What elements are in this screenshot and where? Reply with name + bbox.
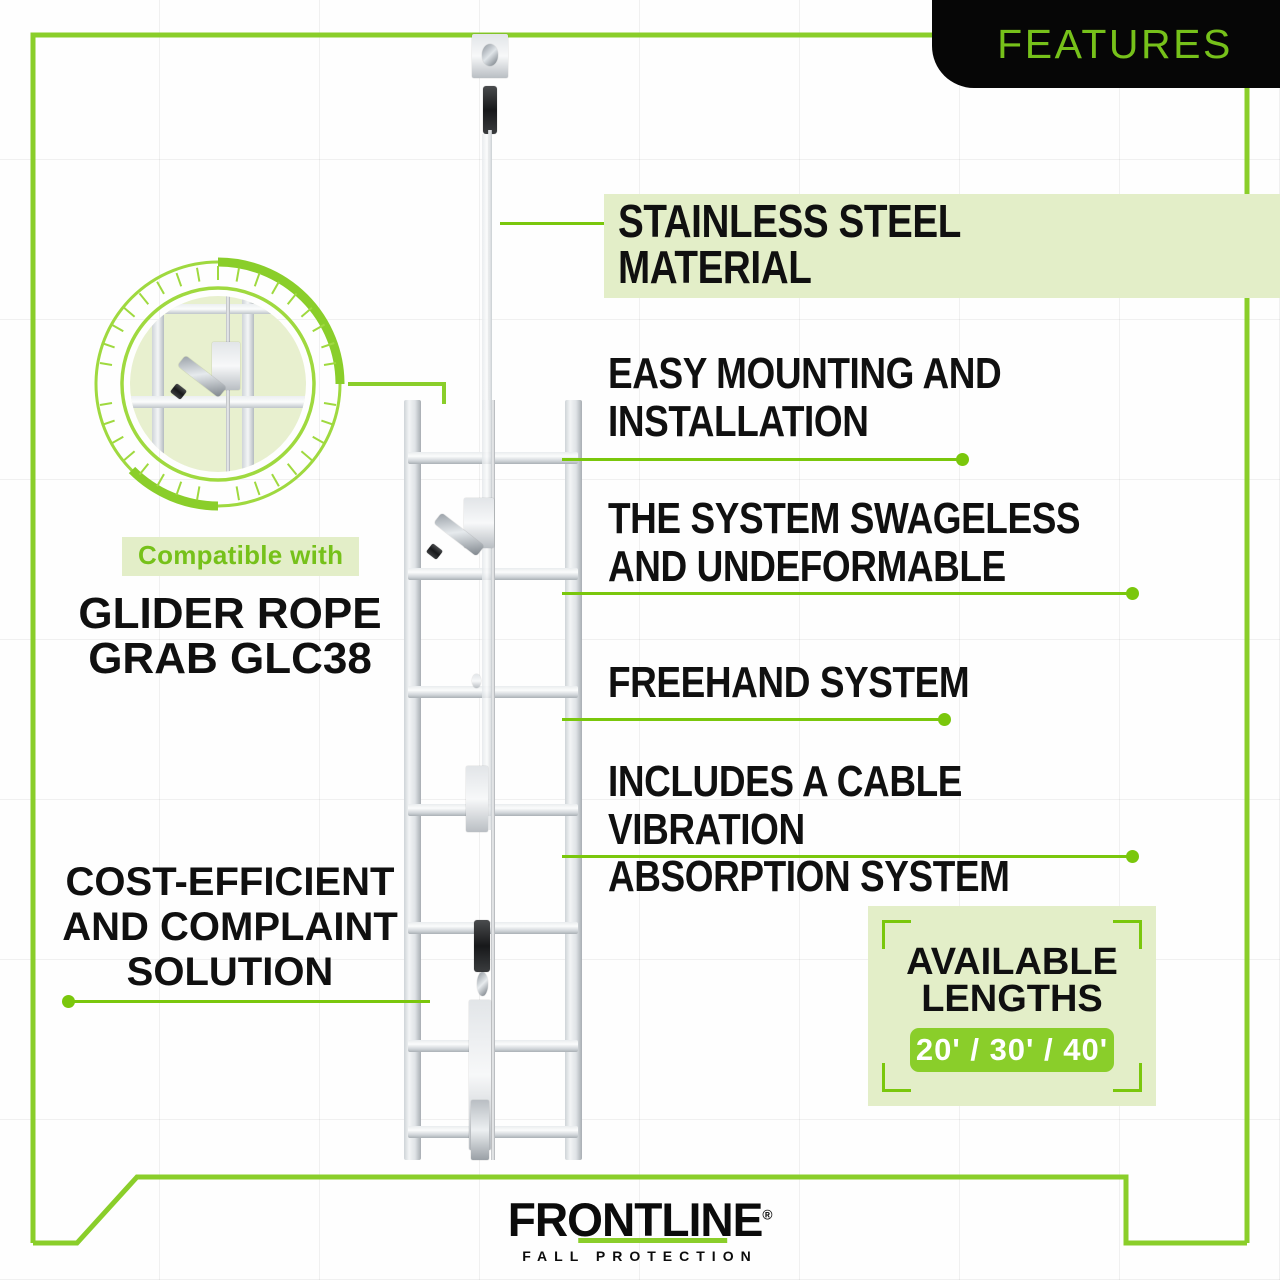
frontline-logo: FRONTLINE® FALL PROTECTION [480, 1196, 800, 1264]
feature-vibration-label: INCLUDES A CABLE VIBRATION ABSORPTION SY… [608, 758, 1146, 901]
feature-dot-vibration [1126, 850, 1139, 863]
feature-line-stainless [500, 222, 610, 225]
logo-wordmark: FRONTLINE® [508, 1196, 772, 1243]
features-header-tab: FEATURES [932, 0, 1280, 88]
corner-bracket-bottom-left [882, 1063, 911, 1092]
feature-line-easy-mounting [562, 458, 962, 461]
feature-line-swageless [562, 592, 1132, 595]
corner-bracket-bottom-right [1113, 1063, 1142, 1092]
feature-line-cost-efficient [70, 1000, 430, 1003]
cost-efficient-label: COST-EFFICIENT AND COMPLAINT SOLUTION [60, 860, 400, 994]
feature-freehand-label: FREEHAND SYSTEM [608, 660, 969, 706]
available-lengths-value: 20' / 30' / 40' [916, 1032, 1108, 1068]
compatible-with-label: Compatible with [122, 537, 359, 576]
feature-swageless-label: THE SYSTEM SWAGELESS AND UNDEFORMABLE [608, 495, 1080, 590]
features-header-label: FEATURES [979, 21, 1233, 68]
feature-swageless: THE SYSTEM SWAGELESS AND UNDEFORMABLE [608, 495, 1208, 590]
product-photo-top-anchor [470, 34, 510, 404]
available-lengths-box: AVAILABLE LENGTHS 20' / 30' / 40' [868, 906, 1156, 1106]
feature-line-vibration [562, 855, 1132, 858]
magnifier-detail-photo [130, 296, 306, 472]
infographic-canvas: FEATURES [0, 0, 1280, 1280]
feature-dot-freehand [938, 713, 951, 726]
feature-easy-mounting: EASY MOUNTING AND INSTALLATION [608, 350, 1168, 445]
available-lengths-pill: 20' / 30' / 40' [910, 1028, 1114, 1072]
ladder-photo [398, 400, 588, 1160]
feature-stainless-steel: STAINLESS STEEL MATERIAL [604, 194, 1280, 298]
feature-stainless-label: STAINLESS STEEL MATERIAL [618, 198, 1162, 290]
magnifier-callout [84, 250, 352, 518]
feature-dot-swageless [1126, 587, 1139, 600]
compatible-product-label: GLIDER ROPE GRAB GLC38 [60, 592, 400, 682]
feature-freehand: FREEHAND SYSTEM [608, 660, 1108, 706]
available-lengths-title: AVAILABLE LENGTHS [868, 944, 1156, 1018]
shock-absorber [474, 920, 490, 972]
logo-green-bar [579, 1238, 728, 1243]
feature-line-freehand [562, 718, 944, 721]
feature-vibration: INCLUDES A CABLE VIBRATION ABSORPTION SY… [608, 758, 1248, 901]
logo-tagline: FALL PROTECTION [480, 1248, 800, 1264]
feature-dot-cost-efficient [62, 995, 75, 1008]
feature-easy-mounting-label: EASY MOUNTING AND INSTALLATION [608, 350, 1001, 445]
feature-dot-easy-mounting [956, 453, 969, 466]
logo-registered-mark: ® [763, 1206, 772, 1222]
